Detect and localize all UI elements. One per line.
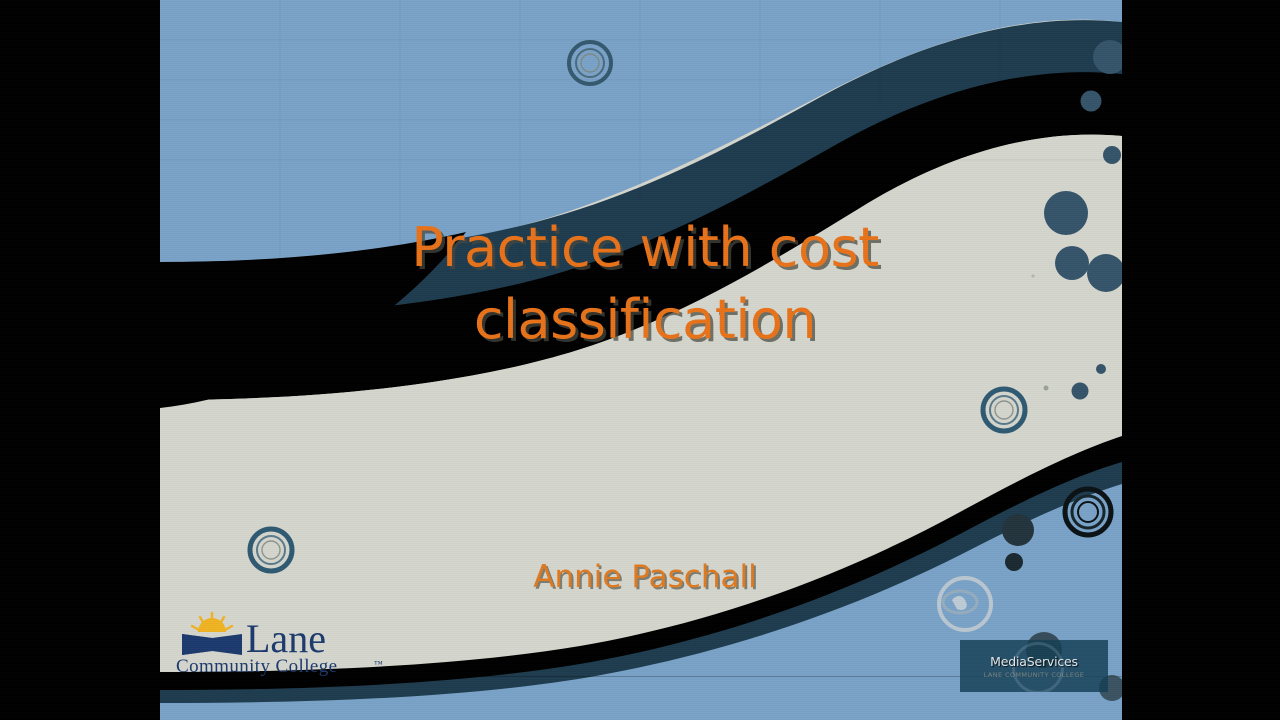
lane-logo-graphic: Lane Community College ™ bbox=[170, 605, 390, 677]
logo-tagline: Community College bbox=[176, 656, 337, 677]
media-services-watermark: MediaServices LANE COMMUNITY COLLEGE bbox=[960, 640, 1108, 692]
presentation-slide: Practice with cost classification Annie … bbox=[160, 0, 1122, 720]
logo-trademark: ™ bbox=[374, 659, 383, 669]
watermark-sublabel: LANE COMMUNITY COLLEGE bbox=[960, 671, 1108, 679]
video-frame: Practice with cost classification Annie … bbox=[0, 0, 1280, 720]
lane-community-college-logo: Lane Community College ™ bbox=[170, 605, 390, 677]
logo-wordmark: Lane bbox=[246, 616, 326, 661]
watermark-label: MediaServices bbox=[960, 654, 1108, 669]
